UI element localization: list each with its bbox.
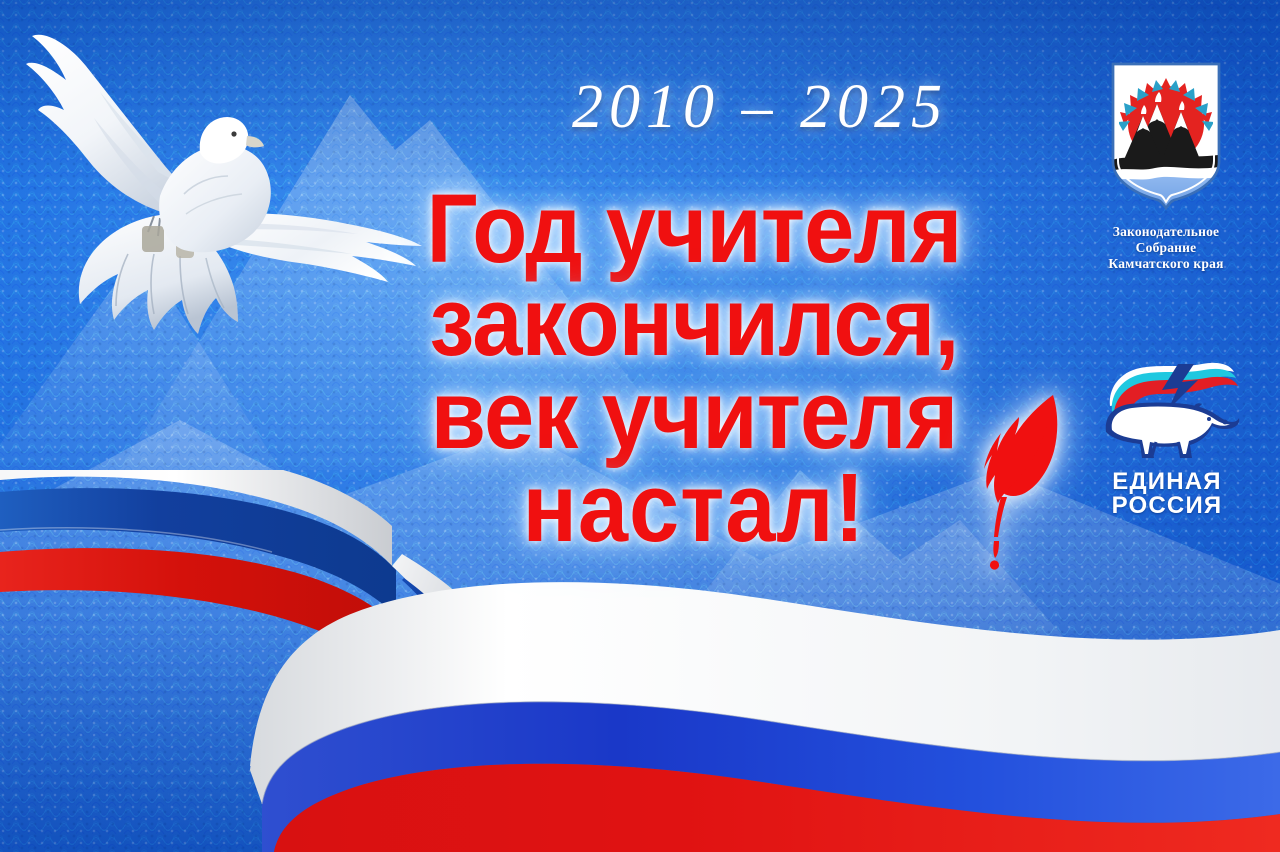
- united-russia-bear-logo-icon: [1082, 350, 1252, 468]
- headline-line-4: настал!: [361, 461, 1027, 554]
- headline-line-1: Год учителя: [361, 182, 1027, 275]
- emblem-caption: Законодательное Собрание Камчатского кра…: [1078, 224, 1254, 272]
- headline-line-2: закончился,: [361, 275, 1027, 368]
- kamchatka-emblem-block: Законодательное Собрание Камчатского кра…: [1078, 58, 1254, 272]
- party-bear-icon: [1106, 403, 1239, 459]
- united-russia-block: ЕДИНАЯ РОССИЯ: [1072, 350, 1262, 518]
- party-name-line-2: РОССИЯ: [1072, 494, 1262, 518]
- kamchatka-coat-of-arms-icon: [1105, 58, 1227, 210]
- united-russia-name: ЕДИНАЯ РОССИЯ: [1072, 470, 1262, 518]
- emblem-caption-line-3: Камчатского края: [1078, 256, 1254, 272]
- headline: Год учителя закончился, век учителя наст…: [336, 182, 1052, 554]
- poster-canvas: 2010 – 2025 Год учителя закончился, век …: [0, 0, 1280, 852]
- party-name-line-1: ЕДИНАЯ: [1072, 470, 1262, 494]
- red-feather-quill-icon: [965, 385, 1075, 570]
- emblem-caption-line-2: Собрание: [1078, 240, 1254, 256]
- years-range: 2010 – 2025: [470, 72, 1050, 143]
- emblem-caption-line-1: Законодательное: [1078, 224, 1254, 240]
- headline-line-3: век учителя: [361, 368, 1027, 461]
